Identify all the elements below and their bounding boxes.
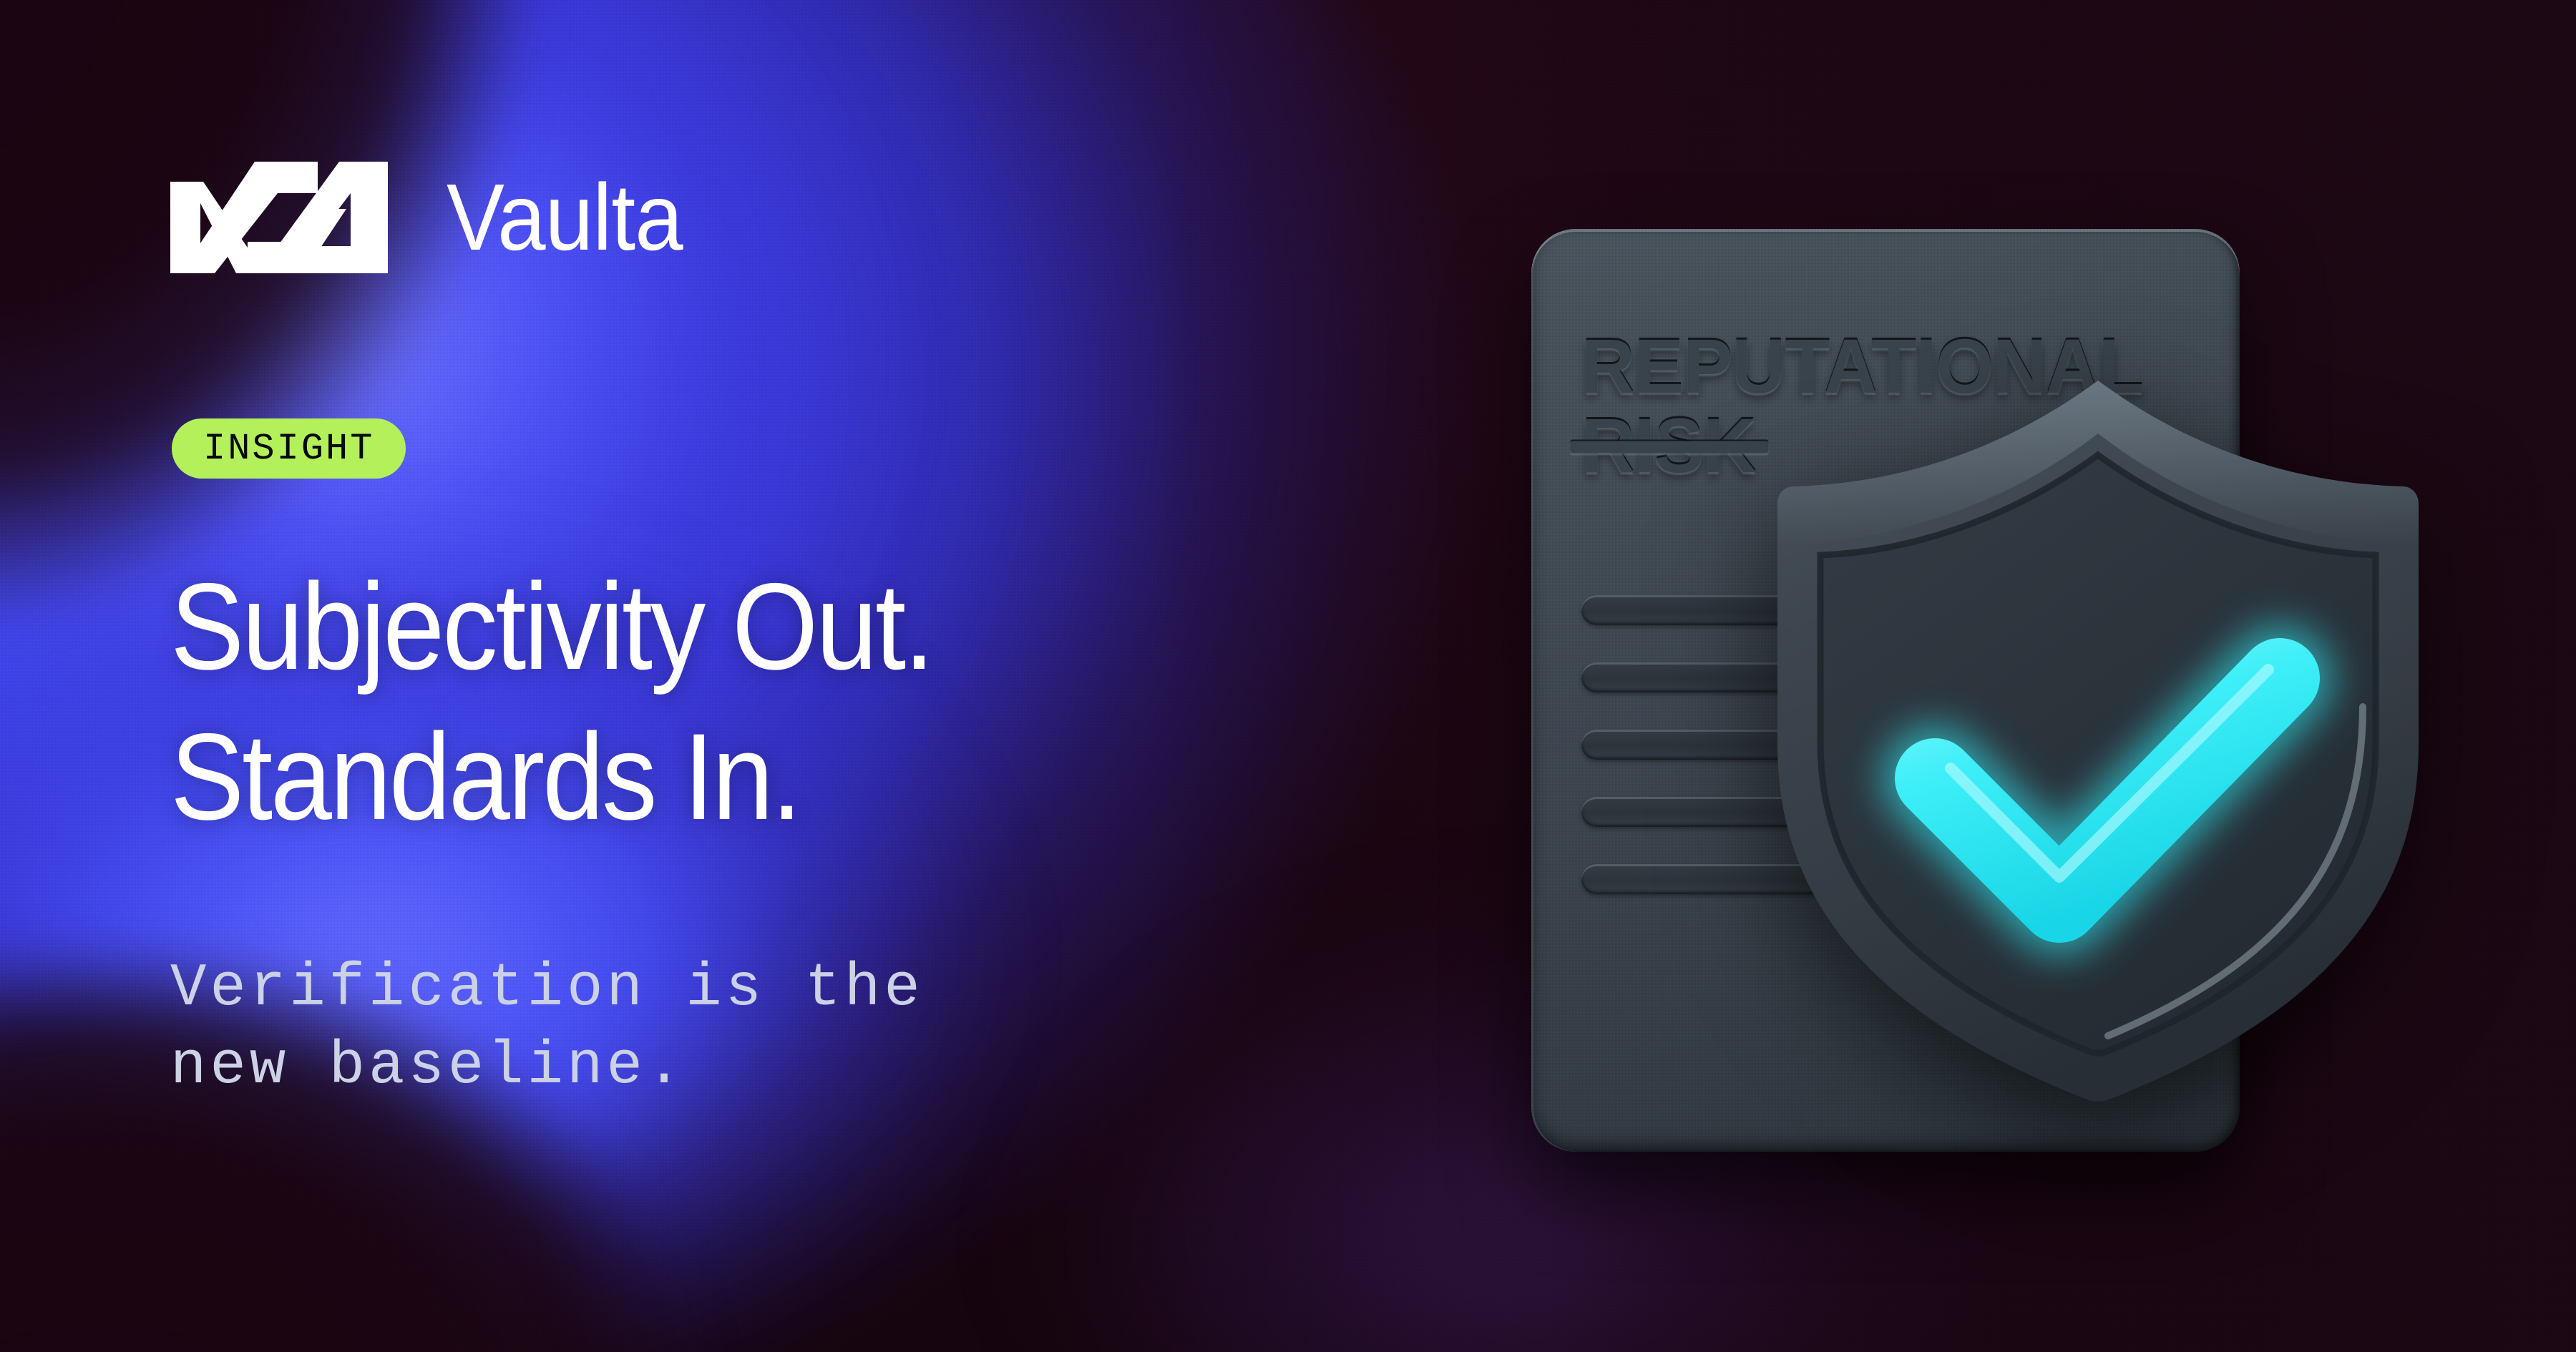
insight-badge: INSIGHT <box>172 418 406 479</box>
hero-illustration: REPUTATIONAL RISK <box>1503 200 2476 1202</box>
brand-name: Vaulta <box>447 170 683 265</box>
headline-line-2: Standards In. <box>170 702 932 853</box>
subheadline-line-1: Verification is the <box>170 950 924 1028</box>
brand-lockup[interactable]: Vaulta <box>170 162 703 273</box>
page-title: Subjectivity Out. Standards In. <box>170 552 932 853</box>
hero-content: Vaulta INSIGHT Subjectivity Out. Standar… <box>170 0 1287 1352</box>
vaulta-monogram-icon <box>170 162 414 273</box>
document-title-line-2: RISK <box>1581 406 1756 485</box>
page-subtitle: Verification is the new baseline. <box>170 950 924 1106</box>
headline-line-1: Subjectivity Out. <box>170 552 932 702</box>
subheadline-line-2: new baseline. <box>170 1028 924 1106</box>
hero-banner: Vaulta INSIGHT Subjectivity Out. Standar… <box>0 0 2576 1352</box>
verified-shield <box>1759 371 2437 1111</box>
shield-icon <box>1759 371 2437 1111</box>
